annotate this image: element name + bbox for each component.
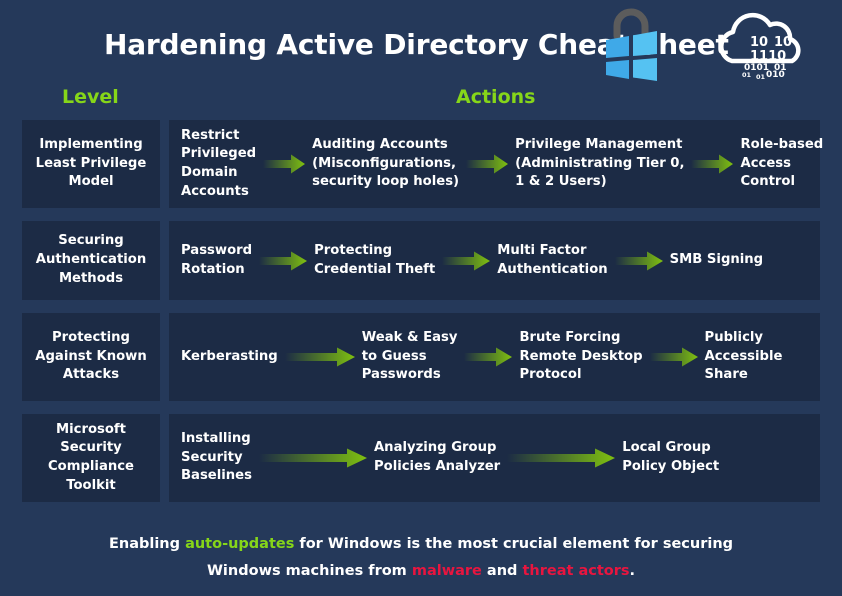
arrow-right-icon [507,448,615,468]
footer-highlight-threat-actors: threat actors [522,563,629,579]
action-step: Multi Factor Authentication [497,242,607,279]
action-step: Role-based Access Control [740,136,823,192]
footer-text: Windows machines from [207,563,412,579]
actions-cell: Kerberasting Weak & Easy to Guess Passwo… [169,313,820,401]
table-row: Protecting Against Known Attacks Kerbera… [22,313,820,401]
arrow-right-icon [442,251,490,271]
svg-text:01: 01 [742,71,752,79]
action-step: Password Rotation [181,242,252,279]
level-column-heading: Level [62,86,119,108]
arrow-right-icon [464,347,512,367]
arrow-right-icon [259,251,307,271]
actions-cell: Installing Security Baselines Analyzing … [169,414,820,502]
column-headings: Level Actions [0,88,842,120]
table-row: Implementing Least Privilege Model Restr… [22,120,820,208]
action-step: Protecting Credential Theft [314,242,435,279]
footer-text: Enabling [109,536,185,552]
action-step: Local Group Policy Object [622,439,719,476]
actions-cell: Restrict Privileged Domain Accounts Audi… [169,120,820,208]
action-step: Publicly Accessible Share [705,329,783,385]
cloud-binary-icon: 10 10 1110 0101 01 01 01 010 [704,9,822,79]
svg-text:10: 10 [774,35,792,50]
table-row: Securing Authentication Methods Password… [22,221,820,300]
action-step: Auditing Accounts (Misconfigurations, se… [312,136,459,192]
level-cell: Protecting Against Known Attacks [22,313,160,401]
actions-column-heading: Actions [456,86,535,108]
windows-lock-icon [600,6,662,82]
svg-text:010: 010 [766,70,785,79]
arrow-right-icon [615,251,663,271]
action-step: Kerberasting [181,348,278,367]
footer-text: and [482,563,523,579]
arrow-right-icon [285,347,355,367]
page-header: Hardening Active Directory Cheat Sheet 1… [0,0,842,88]
matrix-rows: Implementing Least Privilege Model Restr… [0,120,842,502]
header-icon-group: 10 10 1110 0101 01 01 01 010 [600,6,822,82]
table-row: Microsoft Security Compliance Toolkit In… [22,414,820,502]
action-step: Analyzing Group Policies Analyzer [374,439,500,476]
level-cell: Securing Authentication Methods [22,221,160,300]
action-step: Installing Security Baselines [181,430,252,486]
action-step: Brute Forcing Remote Desktop Protocol [519,329,642,385]
footer-line-1: Enabling auto-updates for Windows is the… [0,531,842,559]
action-step: Restrict Privileged Domain Accounts [181,127,256,202]
footer-text: for Windows is the most crucial element … [294,536,733,552]
svg-text:01: 01 [756,73,766,79]
level-cell: Microsoft Security Compliance Toolkit [22,414,160,502]
arrow-right-icon [691,154,733,174]
footer-text: . [630,563,636,579]
arrow-right-icon [650,347,698,367]
arrow-right-icon [263,154,305,174]
action-step: Privilege Management (Administrating Tie… [515,136,684,192]
arrow-right-icon [466,154,508,174]
footer-highlight-auto-updates: auto-updates [185,536,294,552]
svg-text:1110: 1110 [750,49,786,64]
footer-highlight-malware: malware [412,563,482,579]
level-cell: Implementing Least Privilege Model [22,120,160,208]
actions-cell: Password Rotation Protecting Credential … [169,221,820,300]
action-step: Weak & Easy to Guess Passwords [362,329,458,385]
arrow-right-icon [259,448,367,468]
footer-note: Enabling auto-updates for Windows is the… [0,531,842,586]
svg-text:10: 10 [750,35,768,50]
action-step: SMB Signing [670,251,763,270]
footer-line-2: Windows machines from malware and threat… [0,558,842,586]
